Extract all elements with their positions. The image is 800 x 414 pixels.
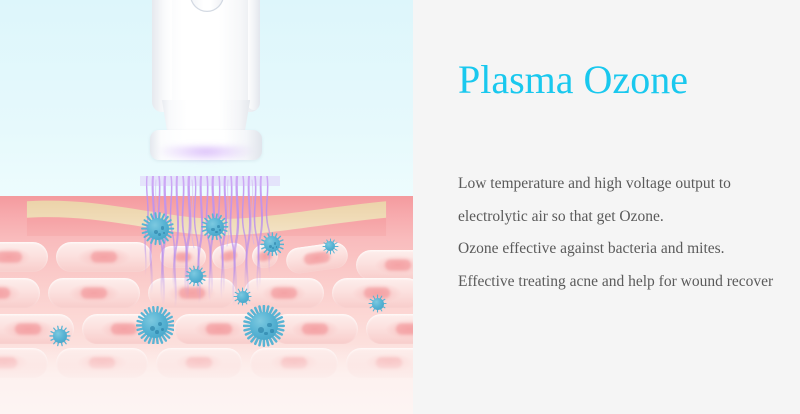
- microbe-particle: [233, 287, 252, 306]
- feature-line: Ozone effective against bacteria and mit…: [458, 233, 788, 266]
- microbe-core: [372, 298, 384, 310]
- microbe-core: [250, 312, 278, 340]
- microbe-speckle: [215, 231, 218, 234]
- microbe-core: [147, 218, 169, 240]
- skin-cell: [366, 314, 413, 344]
- microbe-particle: [243, 305, 285, 347]
- microbe-speckle: [161, 226, 165, 230]
- microbe-speckle: [270, 329, 273, 332]
- microbe-core: [206, 218, 224, 236]
- microbe-particle: [49, 325, 71, 347]
- microbe-particle: [141, 212, 174, 245]
- microbe-particle: [322, 238, 339, 255]
- microbe-core: [264, 236, 280, 252]
- microbe-core: [325, 241, 335, 251]
- microbe-particle: [260, 232, 285, 257]
- skin-cell: [284, 241, 349, 275]
- plasma-wand[interactable]: [146, 0, 266, 180]
- deep-tissue-fade: [0, 344, 413, 414]
- microbe-core: [237, 291, 249, 303]
- product-feature-slide: Plasma Ozone Low temperature and high vo…: [0, 0, 800, 414]
- microbe-speckle: [155, 330, 159, 334]
- skin-cell: [56, 242, 152, 272]
- feature-line: Low temperature and high voltage output …: [458, 168, 788, 201]
- microbe-speckle: [217, 225, 220, 228]
- feature-line: electrolytic air so that get Ozone.: [458, 201, 788, 234]
- microbe-speckle: [267, 323, 271, 327]
- feature-line: Effective treating acne and help for wou…: [458, 266, 788, 299]
- wand-taper: [158, 100, 254, 134]
- microbe-particle: [368, 294, 387, 313]
- wand-body: [152, 0, 260, 112]
- wand-highlight-right: [248, 0, 260, 110]
- skin-treatment-illustration: [0, 0, 413, 414]
- skin-cell: [356, 250, 413, 280]
- wand-highlight-left: [162, 0, 172, 110]
- feature-list: Low temperature and high voltage output …: [458, 168, 788, 298]
- skin-cell: [0, 278, 40, 308]
- microbe-core: [53, 329, 67, 343]
- microbe-core: [189, 269, 203, 283]
- skin-cell: [48, 278, 140, 308]
- description-panel: Plasma Ozone Low temperature and high vo…: [413, 0, 800, 414]
- skin-cell: [272, 314, 358, 344]
- page-title: Plasma Ozone: [458, 57, 688, 103]
- nozzle-glow: [140, 146, 272, 172]
- microbe-particle: [201, 213, 229, 241]
- skin-cell: [0, 242, 48, 272]
- microbe-core: [142, 312, 168, 338]
- microbe-particle: [185, 265, 207, 287]
- microbe-particle: [136, 306, 175, 345]
